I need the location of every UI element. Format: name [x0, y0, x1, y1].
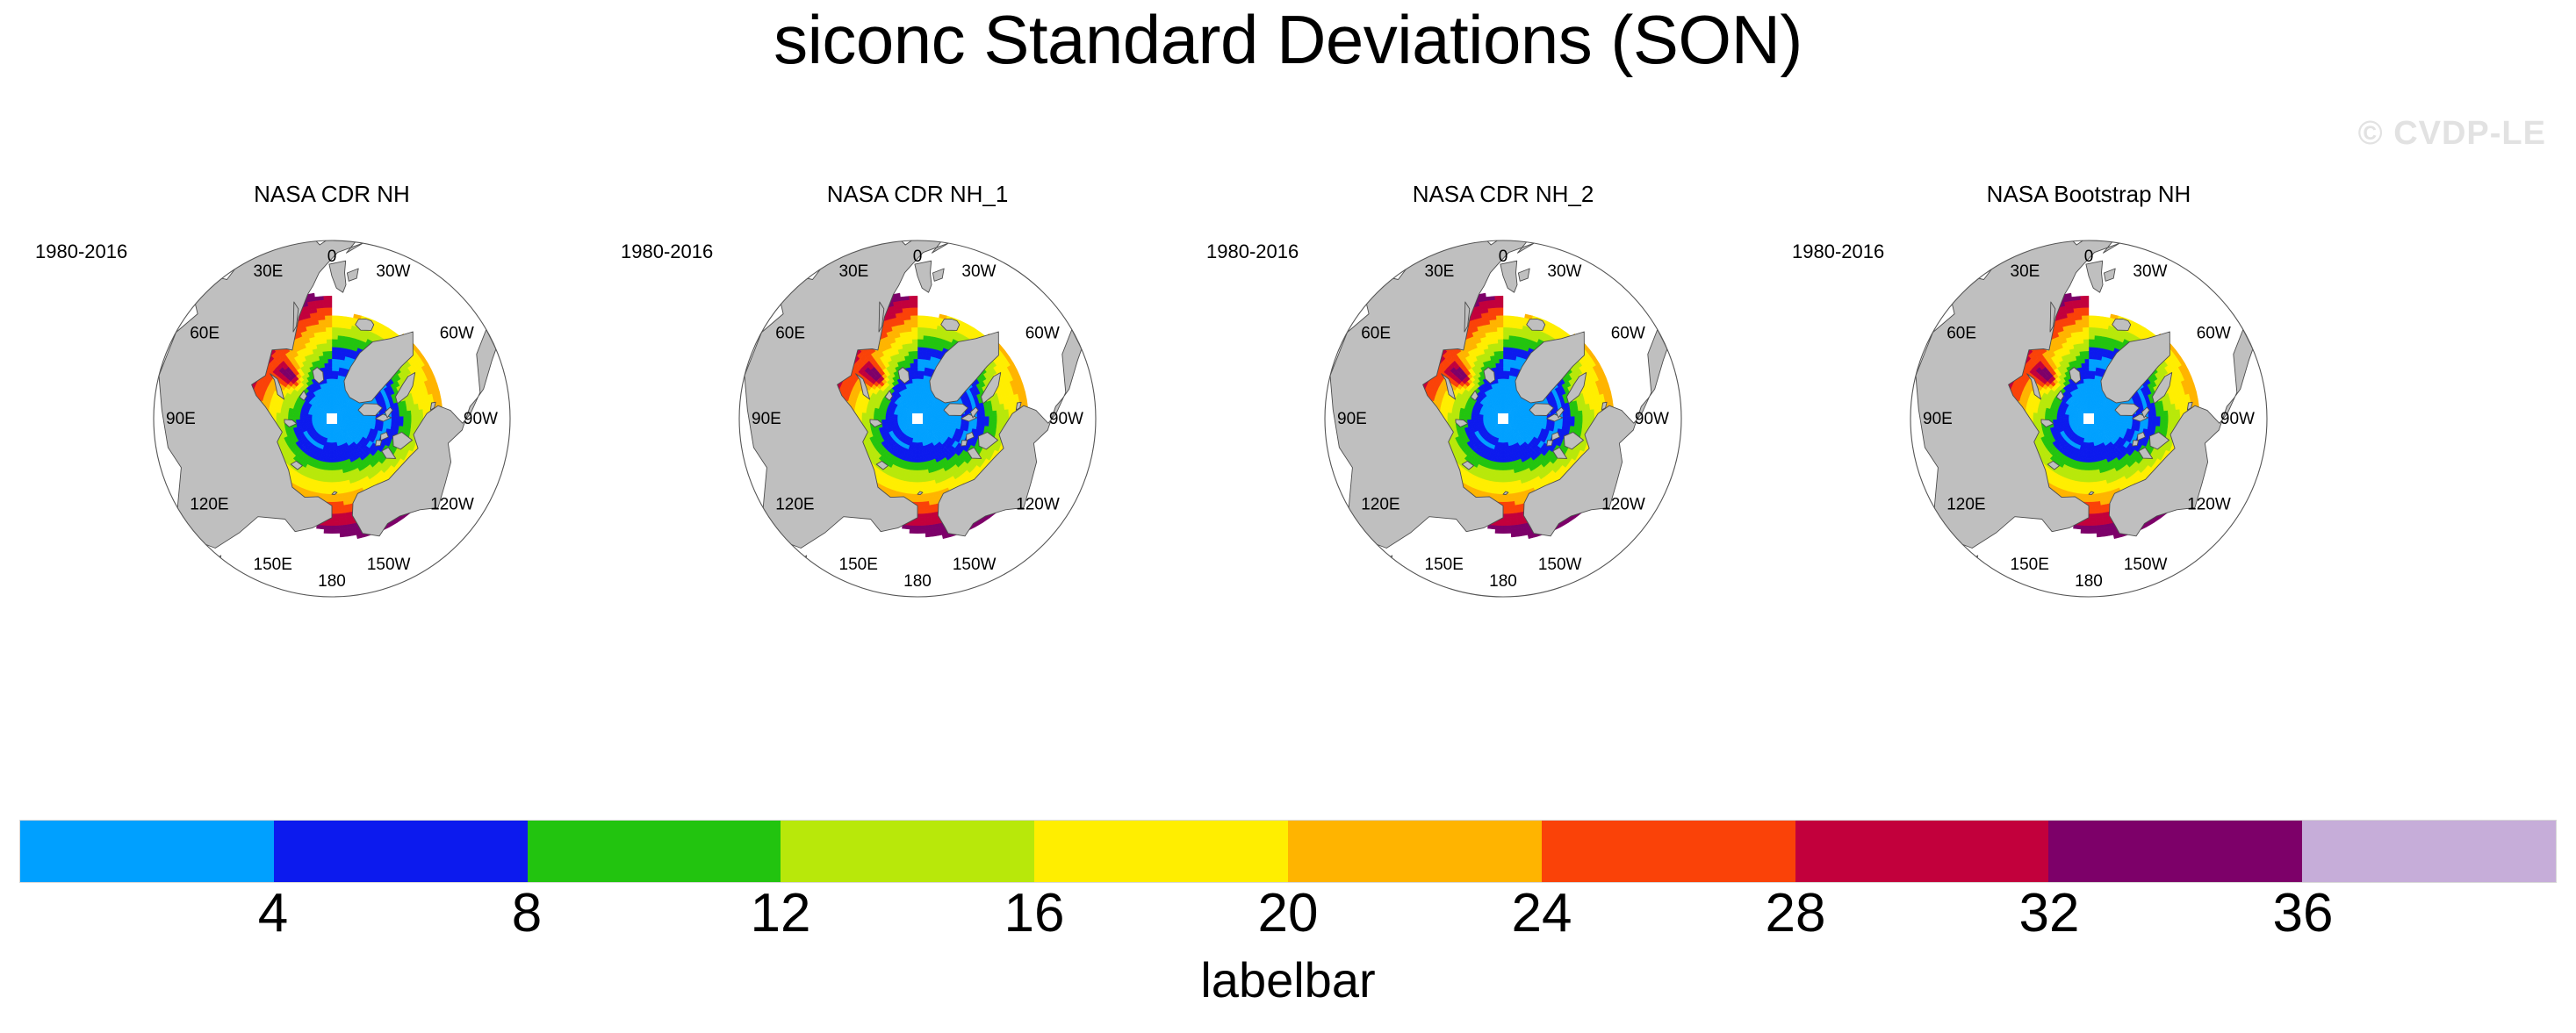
lon-label-120W: 120W: [2187, 496, 2231, 514]
panel-period-2: 1980-2016: [621, 240, 713, 263]
pole-data-hole: [327, 413, 337, 424]
lon-label-180: 180: [903, 572, 932, 591]
polar-map-4: 180150W120W90W60W30W030E60E90E120E150E: [1891, 221, 2286, 616]
lon-label-150W: 150W: [367, 556, 411, 574]
lon-label-0: 0: [2084, 247, 2094, 266]
colorbar-block-1: [20, 821, 274, 882]
lon-label-30E: 30E: [1425, 262, 1455, 281]
colorbar-block-6: [1288, 821, 1542, 882]
lon-label-30E: 30E: [254, 262, 284, 281]
lon-label-90W: 90W: [2220, 410, 2255, 428]
colorbar-block-7: [1542, 821, 1795, 882]
lon-label-180: 180: [2075, 572, 2103, 591]
panel-period-1: 1980-2016: [35, 240, 127, 263]
colorbar-tick-8: 8: [512, 886, 542, 941]
lon-label-120W: 120W: [1601, 496, 1645, 514]
lon-label-60W: 60W: [440, 325, 474, 343]
map-container-2: 180150W120W90W60W30W030E60E90E120E150E: [720, 221, 1115, 616]
colorbar-tick-16: 16: [1004, 886, 1065, 941]
colorbar-tick-32: 32: [2019, 886, 2080, 941]
colorbar-block-3: [528, 821, 781, 882]
cvdp-watermark: © CVDP-LE: [2358, 115, 2546, 153]
lon-label-60W: 60W: [2197, 325, 2231, 343]
page-title: siconc Standard Deviations (SON): [0, 5, 2576, 74]
colorbar-block-5: [1034, 821, 1288, 882]
lon-label-90E: 90E: [166, 410, 196, 428]
lon-label-150E: 150E: [839, 556, 878, 574]
lon-label-120W: 120W: [430, 496, 474, 514]
lon-label-30W: 30W: [961, 262, 996, 281]
lon-label-150W: 150W: [953, 556, 997, 574]
lon-label-120E: 120E: [190, 496, 228, 514]
lon-label-30W: 30W: [1547, 262, 1581, 281]
lon-label-60E: 60E: [1361, 325, 1391, 343]
colorbar-tick-labels: 4812162024283236: [19, 886, 2557, 957]
lon-label-60E: 60E: [1946, 325, 1976, 343]
lon-label-60E: 60E: [190, 325, 219, 343]
map-container-1: 180150W120W90W60W30W030E60E90E120E150E: [134, 221, 529, 616]
colorbar-tick-24: 24: [1512, 886, 1572, 941]
panel-title-3: NASA CDR NH_2: [1196, 181, 1810, 208]
colorbar-block-4: [781, 821, 1034, 882]
colorbar-block-2: [274, 821, 528, 882]
map-panel-2: NASA CDR NH_11980-2016180150W120W90W60W3…: [610, 172, 1225, 786]
pole-data-hole: [2083, 413, 2094, 424]
polar-map-2: 180150W120W90W60W30W030E60E90E120E150E: [720, 221, 1115, 616]
map-container-4: 180150W120W90W60W30W030E60E90E120E150E: [1891, 221, 2286, 616]
lon-label-120E: 120E: [1946, 496, 1985, 514]
lon-label-30E: 30E: [839, 262, 869, 281]
polar-map-1: 180150W120W90W60W30W030E60E90E120E150E: [134, 221, 529, 616]
panel-period-4: 1980-2016: [1792, 240, 1884, 263]
map-panel-3: NASA CDR NH_21980-2016180150W120W90W60W3…: [1196, 172, 1810, 786]
lon-label-150W: 150W: [1538, 556, 1582, 574]
colorbar-block-10: [2302, 821, 2556, 882]
map-panel-row: NASA CDR NH1980-2016180150W120W90W60W30W…: [0, 172, 2576, 786]
colorbar-title: labelbar: [0, 951, 2576, 1008]
panel-title-2: NASA CDR NH_1: [610, 181, 1225, 208]
lon-label-180: 180: [318, 572, 346, 591]
lon-label-90W: 90W: [1049, 410, 1083, 428]
map-panel-4: NASA Bootstrap NH1980-2016180150W120W90W…: [1781, 172, 2396, 786]
lon-label-90W: 90W: [464, 410, 498, 428]
lon-label-120E: 120E: [1361, 496, 1400, 514]
lon-label-0: 0: [913, 247, 923, 266]
lon-label-0: 0: [1499, 247, 1508, 266]
colorbar-block-9: [2048, 821, 2302, 882]
colorbar-tick-20: 20: [1258, 886, 1319, 941]
map-container-3: 180150W120W90W60W30W030E60E90E120E150E: [1306, 221, 1701, 616]
colorbar-tick-4: 4: [258, 886, 288, 941]
lon-label-180: 180: [1489, 572, 1517, 591]
colorbar-tick-28: 28: [1766, 886, 1826, 941]
lon-label-30W: 30W: [2133, 262, 2167, 281]
lon-label-150E: 150E: [1425, 556, 1464, 574]
panel-title-4: NASA Bootstrap NH: [1781, 181, 2396, 208]
panel-title-1: NASA CDR NH: [25, 181, 639, 208]
colorbar-tick-12: 12: [751, 886, 811, 941]
map-panel-1: NASA CDR NH1980-2016180150W120W90W60W30W…: [25, 172, 639, 786]
pole-data-hole: [912, 413, 923, 424]
lon-label-30W: 30W: [376, 262, 410, 281]
colorbar-tick-36: 36: [2273, 886, 2334, 941]
lon-label-90W: 90W: [1635, 410, 1669, 428]
lon-label-60E: 60E: [775, 325, 805, 343]
colorbar-block-8: [1795, 821, 2049, 882]
lon-label-120W: 120W: [1016, 496, 1060, 514]
lon-label-150E: 150E: [254, 556, 292, 574]
lon-label-90E: 90E: [1923, 410, 1953, 428]
lon-label-30E: 30E: [2011, 262, 2040, 281]
polar-map-3: 180150W120W90W60W30W030E60E90E120E150E: [1306, 221, 1701, 616]
pole-data-hole: [1498, 413, 1508, 424]
lon-label-150W: 150W: [2124, 556, 2168, 574]
colorbar-area: 4812162024283236 labelbar: [0, 807, 2576, 1033]
colorbar: [19, 820, 2557, 883]
lon-label-120E: 120E: [775, 496, 814, 514]
lon-label-60W: 60W: [1611, 325, 1645, 343]
lon-label-0: 0: [327, 247, 337, 266]
lon-label-150E: 150E: [2011, 556, 2049, 574]
lon-label-90E: 90E: [1337, 410, 1367, 428]
lon-label-90E: 90E: [752, 410, 781, 428]
panel-period-3: 1980-2016: [1206, 240, 1299, 263]
lon-label-60W: 60W: [1025, 325, 1060, 343]
